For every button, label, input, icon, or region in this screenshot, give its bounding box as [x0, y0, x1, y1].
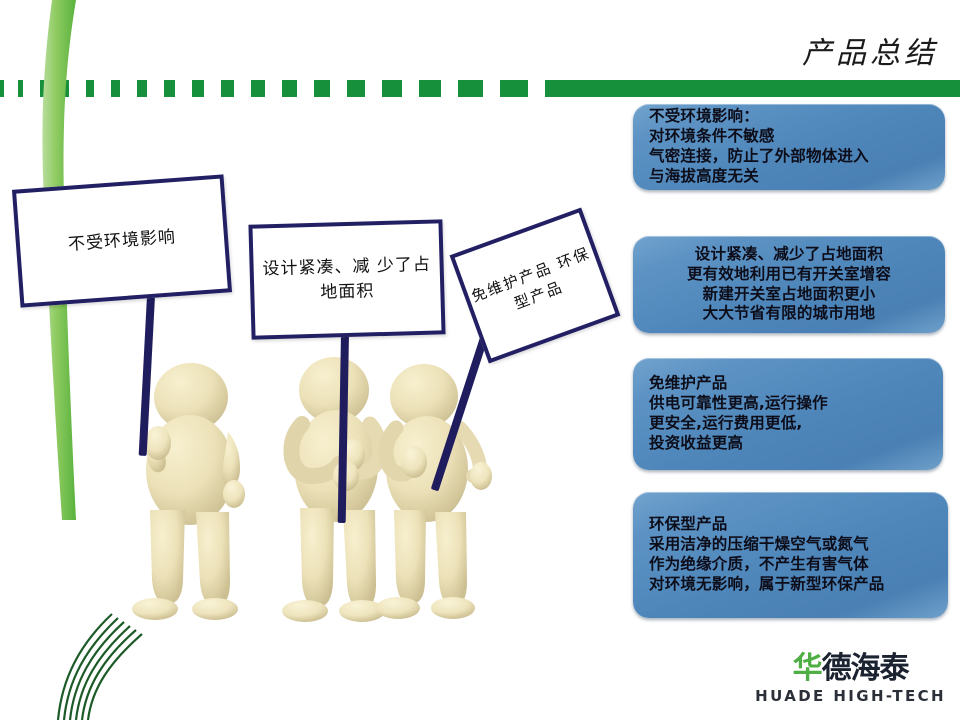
callout-line: 环保型产品	[649, 515, 728, 535]
callout-box-eco-friendly: 环保型产品 采用洁净的压缩干燥空气或氮气 作为绝缘介质，不产生有害气体 对环境无…	[633, 492, 948, 618]
placard-sign-2-text: 设计紧凑、减 少了占地面积	[253, 252, 440, 306]
placard-pole-3	[431, 337, 488, 492]
slide-canvas: 产品总结	[0, 0, 960, 720]
callout-line: 作为绝缘介质，不产生有害气体	[649, 555, 869, 575]
placard-line: 设计紧凑、减	[262, 256, 371, 279]
logo-char-hua: 华	[793, 651, 822, 686]
callout-line: 新建开关室占地面积更小	[703, 285, 876, 305]
callout-box-maintenance-free: 免维护产品 供电可靠性更高,运行操作 更安全,运行费用更低, 投资收益更高	[633, 358, 943, 470]
callout-line: 更有效地利用已有开关室增容	[687, 265, 891, 285]
placard-sign-2: 设计紧凑、减 少了占地面积	[248, 219, 445, 339]
logo-chars-rest: 德海泰	[822, 651, 909, 686]
figure-person-3	[376, 364, 492, 619]
callout-box-compact-design: 设计紧凑、减少了占地面积 更有效地利用已有开关室增容 新建开关室占地面积更小 大…	[633, 236, 945, 333]
placard-sign-1-text: 不受环境影响	[67, 225, 177, 257]
callout-line: 大大节省有限的城市用地	[703, 304, 876, 324]
placard-sign-1: 不受环境影响	[12, 174, 232, 307]
callout-line: 供电可靠性更高,运行操作	[649, 394, 828, 414]
callout-line: 对环境无影响，属于新型环保产品	[649, 575, 885, 595]
callout-line: 气密连接，防止了外部物体进入	[649, 147, 869, 167]
callout-line: 设计紧凑、减少了占地面积	[695, 245, 883, 265]
placard-line: 不受环境影响	[67, 227, 176, 255]
callout-line: 采用洁净的压缩干燥空气或氮气	[649, 535, 869, 555]
placard-pole-1	[139, 296, 155, 456]
callout-box-no-environment-impact: 不受环境影响： 对环境条件不敏感 气密连接，防止了外部物体进入 与海拔高度无关	[633, 104, 945, 190]
placard-sign-3: 免维护产品 环保型产品	[450, 208, 621, 364]
placard-sign-3-text: 免维护产品 环保型产品	[466, 242, 605, 330]
callout-line: 免维护产品	[649, 374, 728, 394]
dashed-green-bar	[0, 80, 960, 97]
callout-line: 投资收益更高	[649, 434, 743, 454]
logo-chinese-name: 华德海泰	[755, 654, 946, 684]
callout-line: 不受环境影响：	[649, 107, 759, 127]
callout-line: 对环境条件不敏感	[649, 127, 775, 147]
logo-english-name: HUADE HIGH-TECH	[755, 689, 946, 704]
company-logo: 华德海泰 HUADE HIGH-TECH	[755, 654, 946, 704]
callout-line: 与海拔高度无关	[649, 167, 759, 187]
placard-pole-2	[338, 333, 349, 523]
page-title: 产品总结	[802, 28, 938, 72]
callout-line: 更安全,运行费用更低,	[649, 414, 802, 434]
figure-person-2	[282, 357, 385, 622]
green-striped-swoosh	[58, 614, 142, 720]
